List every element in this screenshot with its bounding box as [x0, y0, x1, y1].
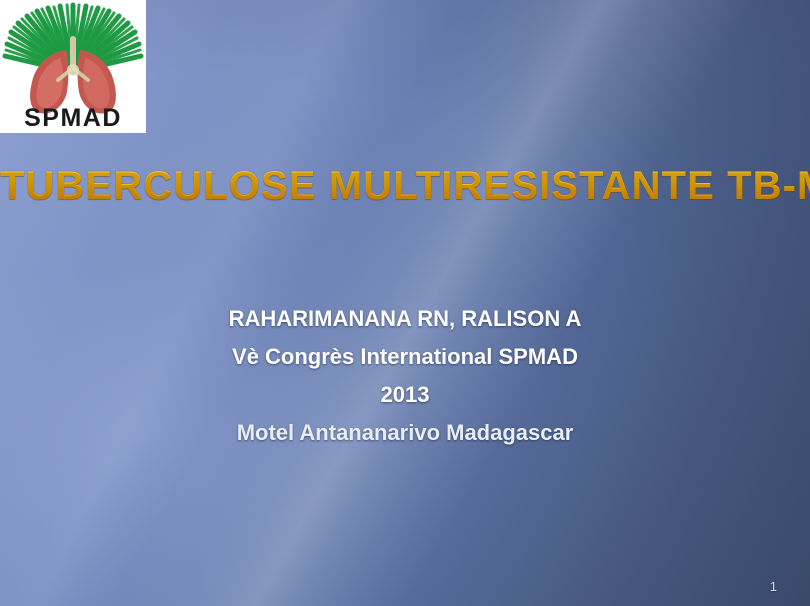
subtitle-line-event: Vè Congrès International SPMAD [0, 338, 810, 376]
slide-title: TUBERCULOSE MULTIRESISTANTE TB-MR [0, 160, 810, 212]
subtitle-line-year: 2013 [0, 376, 810, 414]
presentation-slide: SPMAD TUBERCULOSE MULTIRESISTANTE TB-MR … [0, 0, 810, 606]
spmad-wordmark: SPMAD [24, 104, 122, 132]
slide-subtitle-block: RAHARIMANANA RN, RALISON A Vè Congrès In… [0, 300, 810, 452]
spmad-logo-graphic: SPMAD [0, 0, 146, 133]
subtitle-line-authors: RAHARIMANANA RN, RALISON A [0, 300, 810, 338]
subtitle-line-venue: Motel Antananarivo Madagascar [0, 414, 810, 452]
spmad-logo: SPMAD [0, 0, 146, 133]
page-number: 1 [770, 579, 777, 594]
